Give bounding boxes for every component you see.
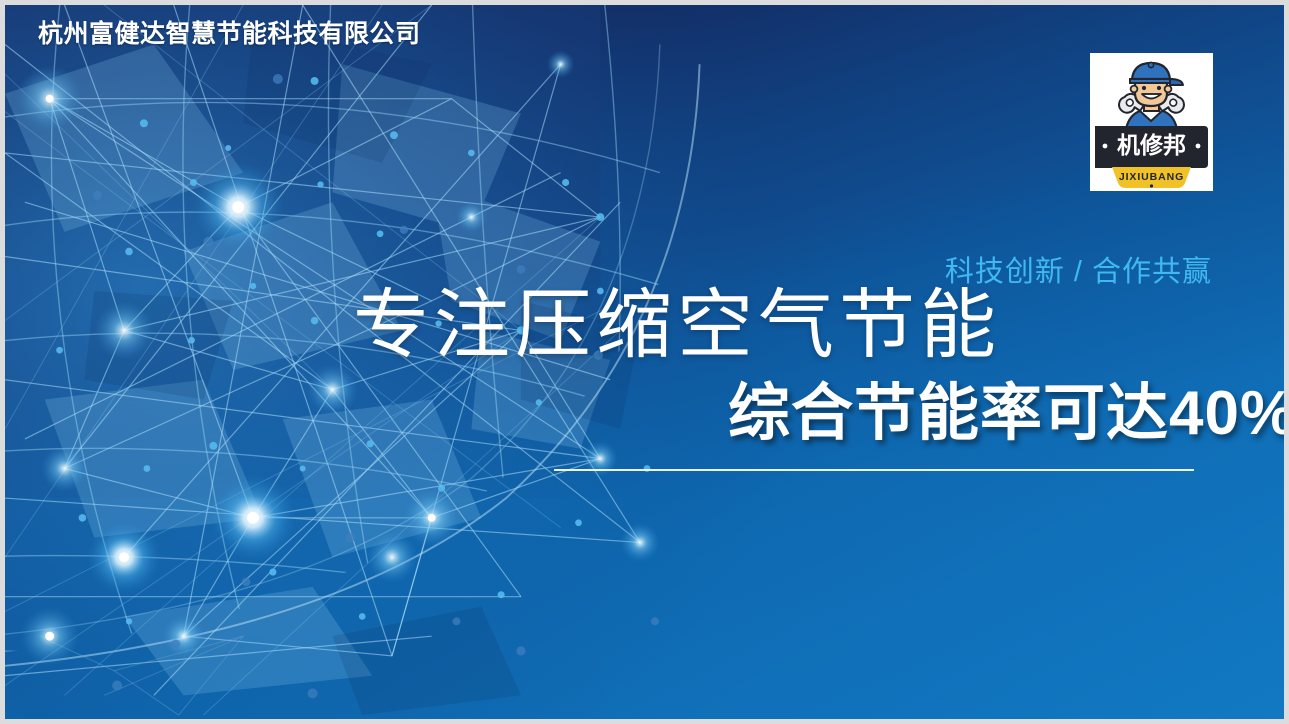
headline-secondary: 综合节能率可达40% [728, 383, 1289, 445]
presentation-slide: 杭州富健达智慧节能科技有限公司 [0, 0, 1289, 724]
logo-brand-cn: 机修邦 [1117, 132, 1186, 158]
logo-brand-en: JIXIUBANG [1119, 171, 1184, 183]
jixiubang-logo: 机修邦 JIXIUBANG [1090, 53, 1213, 191]
headline-divider-line [554, 469, 1194, 471]
company-title: 杭州富健达智慧节能科技有限公司 [38, 14, 421, 50]
headline-primary: 专注压缩空气节能 [353, 288, 1001, 364]
